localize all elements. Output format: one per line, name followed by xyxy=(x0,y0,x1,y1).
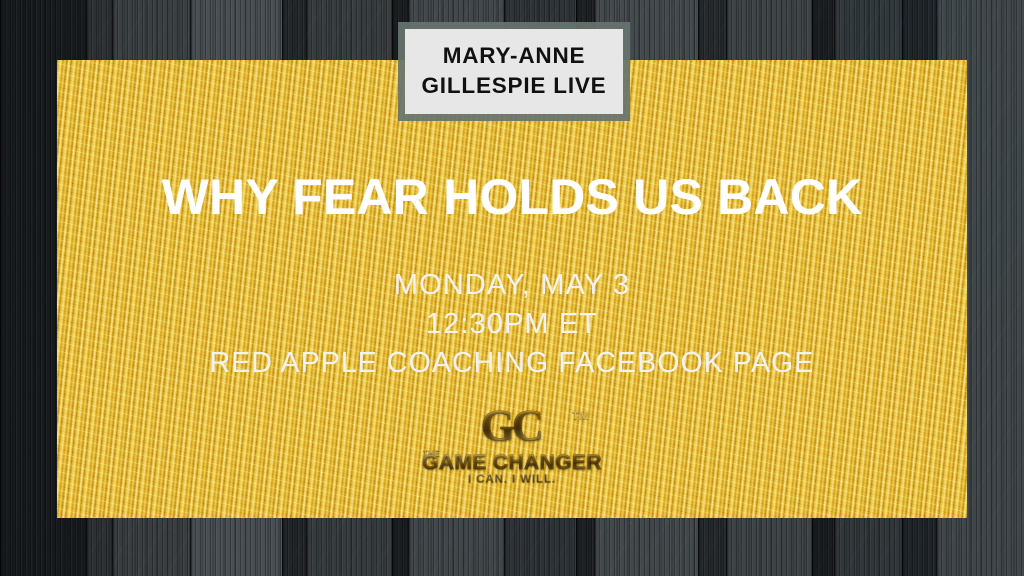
logo-monogram-icon: GC xyxy=(481,404,541,448)
game-changer-logo: GC TM THE GAME CHANGER I CAN. I WILL. xyxy=(417,402,607,494)
speaker-name-line-1: MARY-ANNE xyxy=(415,41,613,71)
speaker-name-box: MARY-ANNE GILLESPIE LIVE xyxy=(405,29,623,114)
trademark-symbol: TM xyxy=(572,410,589,422)
logo-tagline: I CAN. I WILL. xyxy=(468,474,556,486)
speaker-name-line-2: GILLESPIE LIVE xyxy=(415,71,613,101)
promo-graphic: MARY-ANNE GILLESPIE LIVE WHY FEAR HOLDS … xyxy=(0,0,1024,576)
logo-brand-name: GAME CHANGER xyxy=(422,452,602,473)
speaker-name-badge: MARY-ANNE GILLESPIE LIVE xyxy=(398,22,630,121)
